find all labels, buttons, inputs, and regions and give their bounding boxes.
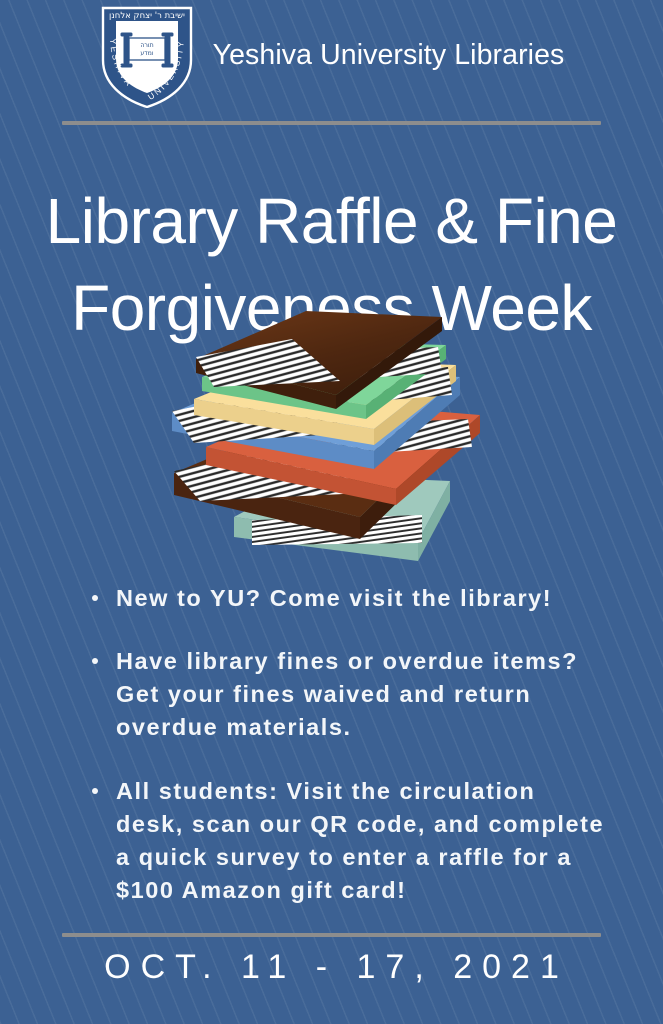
info-bullet-list: New to YU? Come visit the library! Have …	[88, 582, 608, 907]
yeshiva-university-shield-icon: ישיבת ר' יצחק אלחנן תורה ומדע Y	[99, 4, 195, 108]
shield-scroll-hebrew-2: ומדע	[140, 50, 153, 57]
organization-name: Yeshiva University Libraries	[213, 41, 565, 72]
stack-of-books-icon	[160, 305, 504, 570]
shield-scroll-hebrew: תורה	[140, 42, 153, 49]
divider-bottom	[62, 933, 601, 937]
poster: ישיבת ר' יצחק אלחנן תורה ומדע Y	[0, 0, 663, 1024]
divider-top	[62, 121, 601, 125]
bullet-item-2: Have library fines or overdue items? Get…	[88, 645, 608, 744]
title-line-1: Library Raffle & Fine	[0, 178, 663, 265]
bullet-item-3: All students: Visit the circulation desk…	[88, 775, 608, 908]
book-stack-illustration	[0, 305, 663, 570]
event-date-range: OCT. 11 - 17, 2021	[0, 950, 663, 984]
poster-header: ישיבת ר' יצחק אלחנן תורה ומדע Y	[0, 0, 663, 112]
shield-hebrew-top: ישיבת ר' יצחק אלחנן	[109, 11, 185, 21]
bullet-item-1: New to YU? Come visit the library!	[88, 582, 608, 615]
